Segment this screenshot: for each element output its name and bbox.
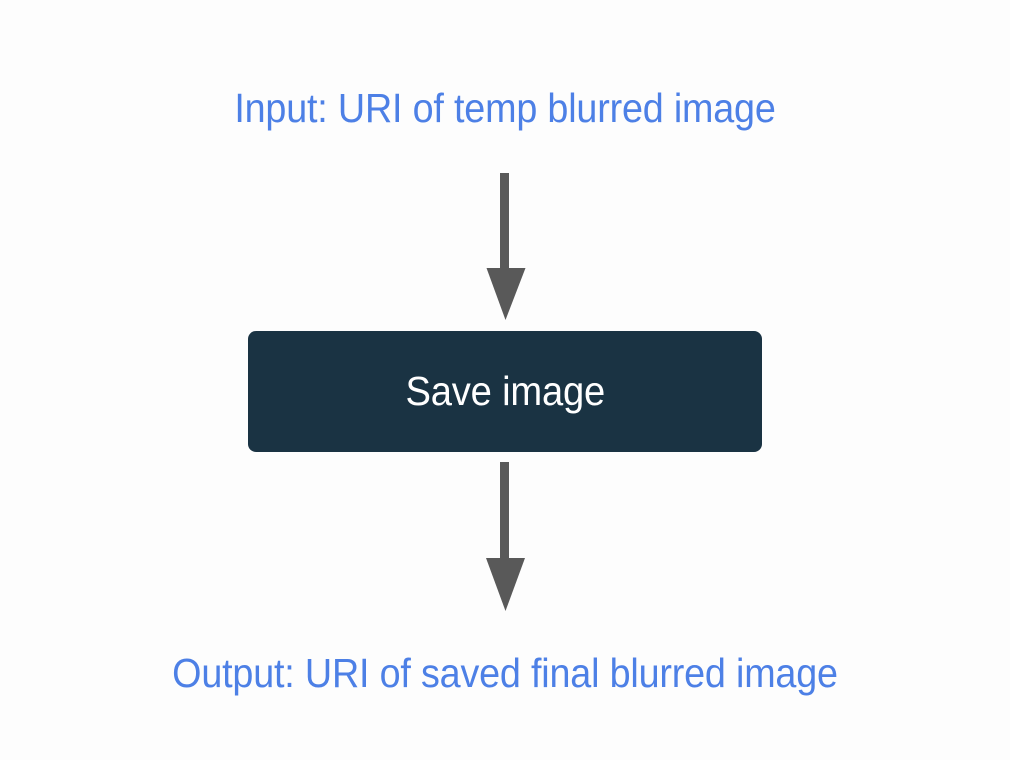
output-label: Output: URI of saved final blurred image <box>40 653 969 694</box>
input-label: Input: URI of temp blurred image <box>40 88 969 129</box>
flowchart-canvas: Input: URI of temp blurred image Save im… <box>0 0 1010 760</box>
process-node-label: Save image <box>405 371 604 412</box>
arrow-process-to-output <box>486 462 525 611</box>
arrow-input-to-process <box>487 173 526 320</box>
process-node-save-image[interactable]: Save image <box>248 331 762 452</box>
